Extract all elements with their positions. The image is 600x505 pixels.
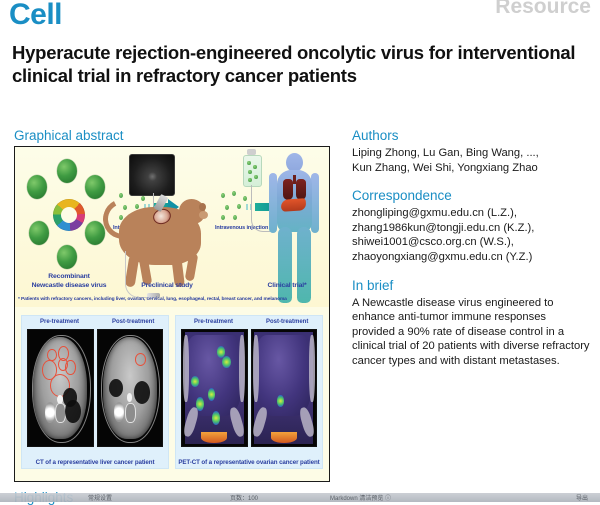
ct-scan-post	[97, 329, 164, 447]
stage3-label: Clinical trial*	[253, 282, 321, 289]
correspondence-line-2[interactable]: zhang1986kun@tongji.edu.cn (K.Z.),	[352, 221, 592, 236]
article-title: Hyperacute rejection-engineered oncolyti…	[12, 42, 587, 87]
recombinant-virus-illustration	[23, 155, 115, 275]
ct-scan-pre	[27, 329, 94, 447]
stage1-label-line1: Recombinant	[37, 273, 101, 280]
iv-bag-neck	[247, 149, 256, 155]
toolbar-item-export[interactable]: 导出	[576, 493, 588, 502]
correspondence-line-4[interactable]: zhaoyongxiang@gxmu.edu.cn (Y.Z.)	[352, 250, 592, 265]
pet-scan-post	[251, 329, 318, 447]
cell-journal-logo: Cell	[9, 0, 62, 32]
ct-pre-label: Pre-treatment	[40, 319, 79, 325]
app-toolbar[interactable]: 常规设置 页数：100 Markdown 清洁预览 ⓘ 导出	[0, 493, 600, 502]
authors-heading: Authors	[352, 128, 592, 143]
pet-ct-panel: Pre-treatment Post-treatment	[175, 315, 323, 469]
stage2-label: Preclinical study	[125, 282, 209, 289]
pet-panel-caption: PET-CT of a representative ovarian cance…	[176, 459, 322, 466]
in-brief-text: A Newcastle disease virus engineered to …	[352, 296, 592, 369]
ct-panel-caption: CT of a representative liver cancer pati…	[22, 459, 168, 466]
viral-genome-map-icon	[53, 199, 85, 231]
correspondence-heading: Correspondence	[352, 188, 592, 203]
graphical-abstract-heading: Graphical abstract	[14, 128, 124, 143]
article-metadata-column: Authors Liping Zhong, Lu Gan, Bing Wang,…	[352, 128, 592, 369]
toolbar-item-markdown-preview[interactable]: Markdown 清洁预览 ⓘ	[330, 493, 391, 502]
correspondence-line-3[interactable]: shiwei1001@csco.org.cn (W.S.),	[352, 235, 592, 250]
imaging-panels: Pre-treatment Post-treatment	[15, 311, 329, 481]
pet-scan-pre	[181, 329, 248, 447]
toolbar-item-settings[interactable]: 常规设置	[88, 493, 112, 502]
correspondence-line-1[interactable]: zhongliping@gxmu.edu.cn (L.Z.),	[352, 206, 592, 221]
iv-bag-icon	[243, 155, 262, 187]
authors-line-2: Kun Zhang, Wei Shi, Yongxiang Zhao	[352, 161, 592, 176]
preclinical-study-illustration	[107, 151, 217, 303]
in-brief-heading: In brief	[352, 278, 592, 293]
article-preview-page: Cell Resource Hyperacute rejection-engin…	[0, 0, 600, 502]
masthead: Cell Resource	[0, 0, 600, 40]
pet-post-label: Post-treatment	[266, 319, 308, 325]
stage1-label-line2: Newcastle disease virus	[21, 282, 117, 289]
toolbar-item-pagecount[interactable]: 页数：100	[230, 493, 258, 502]
article-type-label: Resource	[495, 0, 591, 19]
graphical-abstract-footnote: * Patients with refractory cancers, incl…	[18, 297, 326, 302]
ultrasound-monitor-icon	[129, 154, 175, 196]
ct-panel: Pre-treatment Post-treatment	[21, 315, 169, 469]
patient-silhouette	[267, 153, 321, 303]
lungs-icon	[283, 179, 306, 200]
iv-line	[125, 251, 148, 298]
ct-post-label: Post-treatment	[112, 319, 154, 325]
graphical-abstract-figure: Intravenous injection	[14, 146, 330, 482]
pet-pre-label: Pre-treatment	[194, 319, 233, 325]
authors-line-1: Liping Zhong, Lu Gan, Bing Wang, ...,	[352, 146, 592, 161]
workflow-diagram: Intravenous injection	[15, 147, 329, 307]
